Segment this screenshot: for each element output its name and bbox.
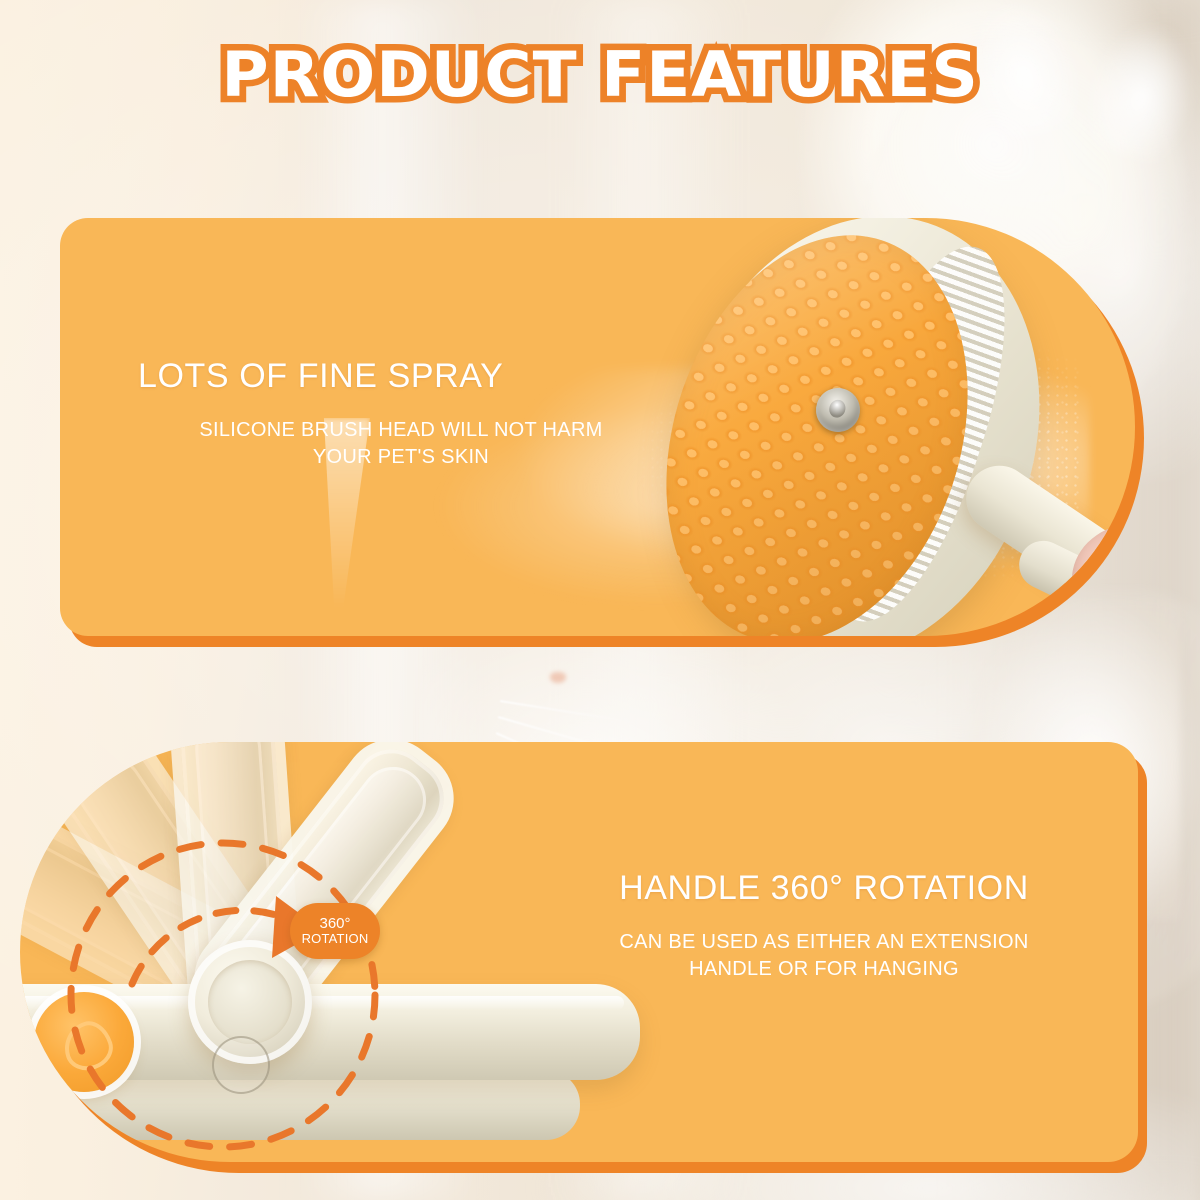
rotation-subtitle-line-2: HANDLE OR FOR HANGING xyxy=(574,956,1074,983)
feature-card-rotation: HANDLE 360° ROTATION CAN BE USED AS EITH… xyxy=(20,742,1138,1162)
spray-card-text: LOTS OF FINE SPRAY SILICONE BRUSH HEAD W… xyxy=(138,358,658,471)
spray-card-subtitle: SILICONE BRUSH HEAD WILL NOT HARM YOUR P… xyxy=(138,417,658,471)
spray-subtitle-line-1: SILICONE BRUSH HEAD WILL NOT HARM xyxy=(144,417,658,444)
card-surface: LOTS OF FINE SPRAY SILICONE BRUSH HEAD W… xyxy=(60,218,1135,636)
rotation-badge-degrees: 360° xyxy=(319,916,350,931)
spray-subtitle-line-2: YOUR PET'S SKIN xyxy=(144,444,658,471)
rotation-card-text: HANDLE 360° ROTATION CAN BE USED AS EITH… xyxy=(574,870,1074,983)
page-title-wrap: PRODUCT FEATURES xyxy=(0,44,1200,106)
brush-head-product xyxy=(620,218,1135,636)
rotation-subtitle-line-1: CAN BE USED AS EITHER AN EXTENSION xyxy=(574,929,1074,956)
card-surface: HANDLE 360° ROTATION CAN BE USED AS EITH… xyxy=(20,742,1138,1162)
rotation-card-title: HANDLE 360° ROTATION xyxy=(574,870,1074,907)
feature-card-spray: LOTS OF FINE SPRAY SILICONE BRUSH HEAD W… xyxy=(60,218,1135,636)
spray-card-title: LOTS OF FINE SPRAY xyxy=(138,358,658,395)
rotation-badge: 360° ROTATION xyxy=(290,903,380,959)
rotation-card-subtitle: CAN BE USED AS EITHER AN EXTENSION HANDL… xyxy=(574,929,1074,983)
page-title: PRODUCT FEATURES xyxy=(221,44,978,106)
rotation-badge-label: ROTATION xyxy=(302,932,369,946)
